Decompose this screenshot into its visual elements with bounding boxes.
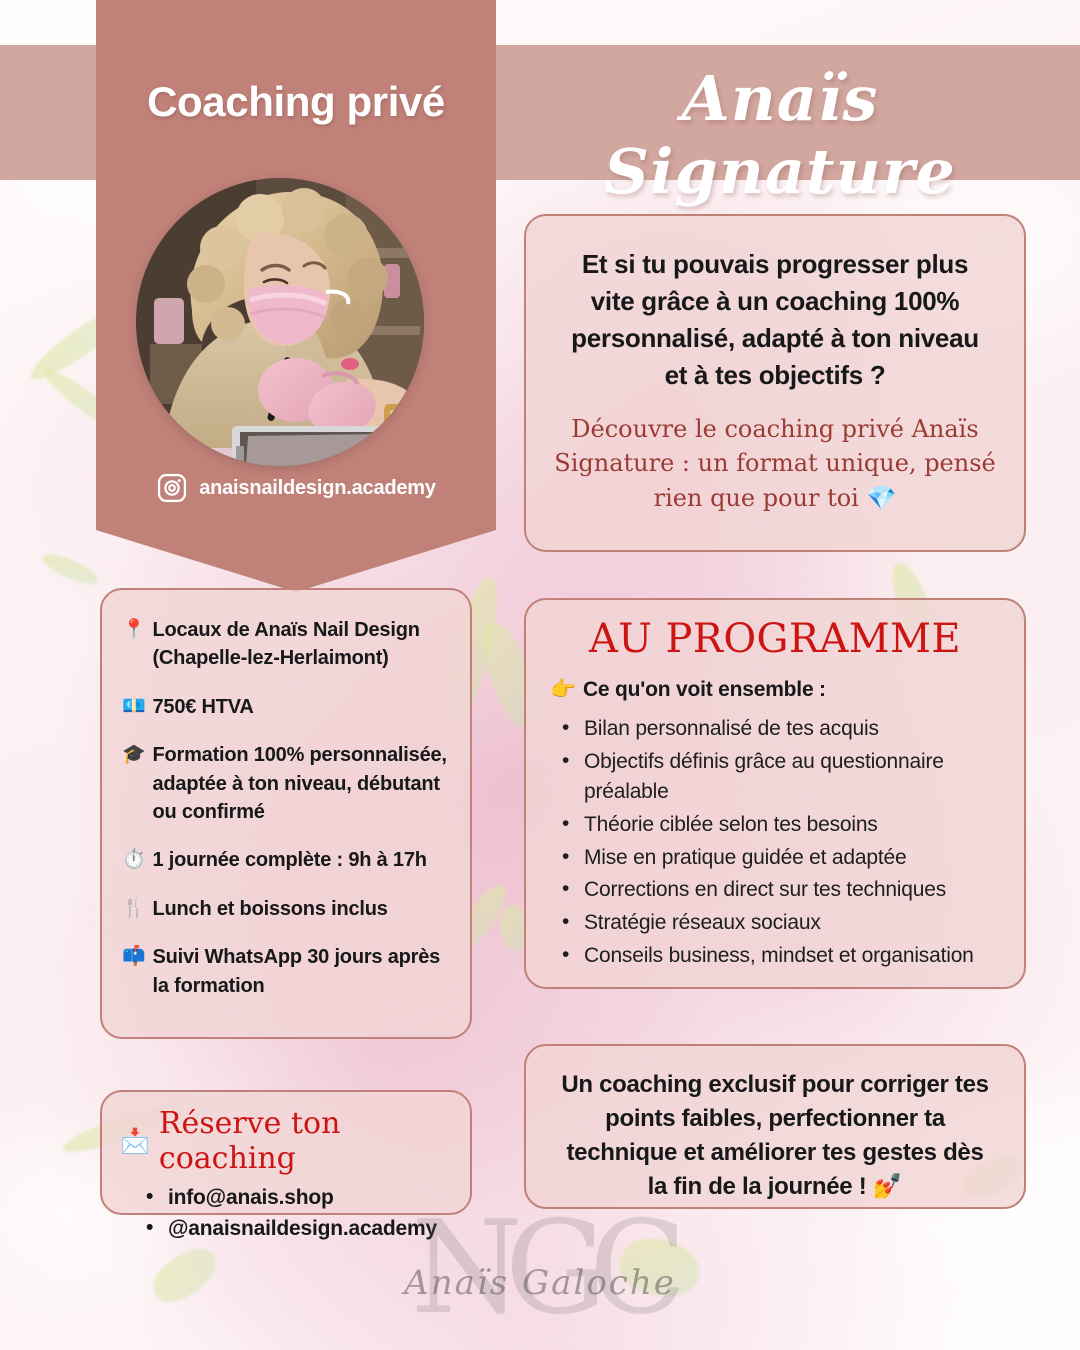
- list-item-label: 750€ HTVA: [152, 693, 448, 721]
- location-pin-icon: 📍: [122, 616, 145, 645]
- list-item: Théorie ciblée selon tes besoins: [584, 810, 1000, 841]
- contact-email[interactable]: info@anais.shop: [168, 1182, 470, 1213]
- instagram-handle: anaisnaildesign.academy: [199, 477, 436, 500]
- instagram-icon: [156, 472, 188, 504]
- list-item-label: Lunch et boissons inclus: [152, 895, 448, 923]
- booking-card: 📩 Réserve ton coaching info@anais.shop @…: [100, 1090, 472, 1215]
- graduation-cap-icon: 🎓: [122, 741, 145, 770]
- euro-banknote-icon: 💶: [122, 693, 145, 722]
- details-list: 📍 Locaux de Anaïs Nail Design (Chapelle-…: [102, 590, 470, 1000]
- promise-card: Un coaching exclusif pour corriger tes p…: [524, 1044, 1026, 1209]
- contact-instagram[interactable]: @anaisnaildesign.academy: [168, 1213, 470, 1244]
- list-item: 🎓 Formation 100% personnalisée, adaptée …: [122, 741, 448, 826]
- programme-bullet-list: Bilan personnalisé de tes acquis Objecti…: [526, 714, 1024, 971]
- intro-question: Et si tu pouvais progresser plus vite gr…: [526, 216, 1024, 394]
- programme-card: AU PROGRAMME 👉 Ce qu'on voit ensemble : …: [524, 598, 1026, 989]
- poster-canvas: Coaching privé Anaïs Signature: [0, 0, 1080, 1350]
- programme-subtitle: Ce qu'on voit ensemble :: [583, 678, 826, 702]
- list-item-label: Suivi WhatsApp 30 jours après la formati…: [152, 943, 448, 1000]
- instagram-row[interactable]: anaisnaildesign.academy: [96, 472, 496, 504]
- brand-script-title: Anaïs Signature: [500, 62, 1060, 208]
- intro-card: Et si tu pouvais progresser plus vite gr…: [524, 214, 1026, 552]
- mailbox-icon: 📫: [122, 943, 145, 972]
- incoming-envelope-icon: 📩: [120, 1127, 150, 1155]
- list-item: Conseils business, mindset et organisati…: [584, 941, 1000, 972]
- list-item: Stratégie réseaux sociaux: [584, 908, 1000, 939]
- intro-tagline: Découvre le coaching privé Anaïs Signatu…: [526, 394, 1024, 516]
- list-item: Corrections en direct sur tes techniques: [584, 875, 1000, 906]
- list-item: 💶 750€ HTVA: [122, 693, 448, 722]
- list-item: 🍴 Lunch et boissons inclus: [122, 895, 448, 924]
- list-item: 📍 Locaux de Anaïs Nail Design (Chapelle-…: [122, 616, 448, 673]
- programme-subtitle-row: 👉 Ce qu'on voit ensemble :: [526, 662, 1024, 702]
- list-item-label: 1 journée complète : 9h à 17h: [152, 846, 448, 874]
- booking-contact-list: info@anais.shop @anaisnaildesign.academy: [102, 1182, 470, 1244]
- booking-heading-row: 📩 Réserve ton coaching: [102, 1092, 470, 1176]
- stopwatch-icon: ⏱️: [122, 846, 145, 875]
- programme-title: AU PROGRAMME: [526, 600, 1024, 662]
- list-item: ⏱️ 1 journée complète : 9h à 17h: [122, 846, 448, 875]
- details-card: 📍 Locaux de Anaïs Nail Design (Chapelle-…: [100, 588, 472, 1039]
- booking-heading: Réserve ton coaching: [159, 1106, 470, 1176]
- list-item-label: Locaux de Anaïs Nail Design (Chapelle-le…: [152, 616, 448, 673]
- list-item: Objectifs définis grâce au questionnaire…: [584, 747, 1000, 808]
- list-item: Mise en pratique guidée et adaptée: [584, 843, 1000, 874]
- promise-text: Un coaching exclusif pour corriger tes p…: [526, 1046, 1024, 1204]
- fork-and-knife-icon: 🍴: [122, 895, 145, 924]
- list-item: Bilan personnalisé de tes acquis: [584, 714, 1000, 745]
- page-title: Coaching privé: [96, 78, 496, 126]
- list-item: 📫 Suivi WhatsApp 30 jours après la forma…: [122, 943, 448, 1000]
- avatar: [136, 178, 424, 466]
- list-item-label: Formation 100% personnalisée, adaptée à …: [152, 741, 448, 826]
- pointing-finger-icon: 👉: [550, 678, 576, 702]
